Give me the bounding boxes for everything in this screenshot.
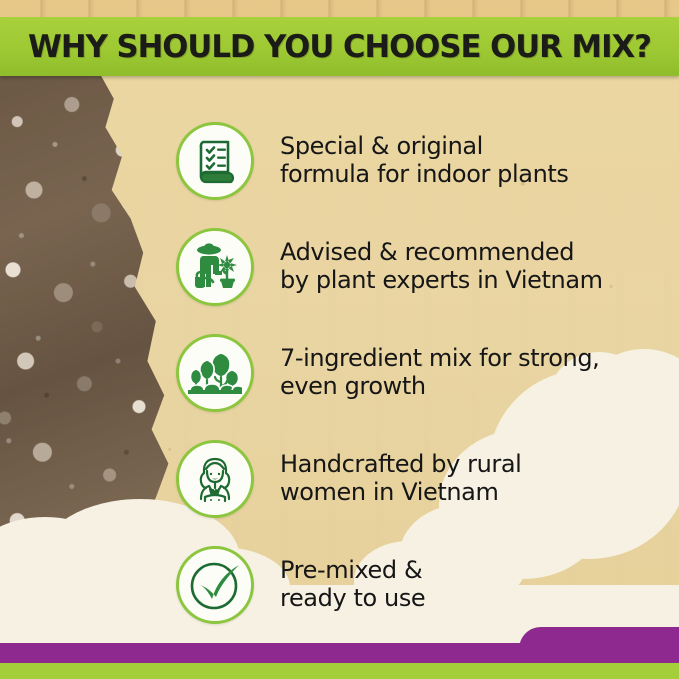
feature-line-2: even growth — [280, 373, 599, 401]
feature-text: Pre-mixed & ready to use — [280, 557, 425, 613]
feature-text: Advised & recommended by plant experts i… — [280, 239, 603, 295]
feature-row: Handcrafted by rural women in Vietnam — [176, 426, 679, 532]
feature-text: Special & original formula for indoor pl… — [280, 133, 569, 189]
feature-row: Advised & recommended by plant experts i… — [176, 214, 679, 320]
feature-row: Special & original formula for indoor pl… — [176, 108, 679, 214]
infographic-canvas: WHY SHOULD YOU CHOOSE OUR MIX? Special &… — [0, 0, 679, 679]
feature-line-1: Advised & recommended — [280, 238, 574, 266]
feature-line-2: formula for indoor plants — [280, 161, 569, 189]
feature-line-2: by plant experts in Vietnam — [280, 267, 603, 295]
checklist-scroll-icon — [176, 122, 254, 200]
footer-purple-step — [519, 627, 679, 663]
feature-row: Pre-mixed & ready to use — [176, 532, 679, 638]
leaves-sprouts-icon — [176, 334, 254, 412]
feature-line-2: women in Vietnam — [280, 479, 521, 507]
feature-text: 7-ingredient mix for strong, even growth — [280, 345, 599, 401]
gardener-watering-icon — [176, 228, 254, 306]
feature-row: 7-ingredient mix for strong, even growth — [176, 320, 679, 426]
feature-line-1: Special & original — [280, 132, 483, 160]
feature-line-1: Handcrafted by rural — [280, 450, 521, 478]
footer-green-band — [0, 663, 679, 679]
feature-list: Special & original formula for indoor pl… — [176, 108, 679, 638]
feature-line-1: 7-ingredient mix for strong, — [280, 344, 599, 372]
feature-line-2: ready to use — [280, 585, 425, 613]
header-banner: WHY SHOULD YOU CHOOSE OUR MIX? — [0, 17, 679, 76]
page-title: WHY SHOULD YOU CHOOSE OUR MIX? — [3, 29, 675, 65]
checkmark-circle-icon — [176, 546, 254, 624]
feature-line-1: Pre-mixed & — [280, 556, 422, 584]
feature-text: Handcrafted by rural women in Vietnam — [280, 451, 521, 507]
woman-portrait-icon — [176, 440, 254, 518]
